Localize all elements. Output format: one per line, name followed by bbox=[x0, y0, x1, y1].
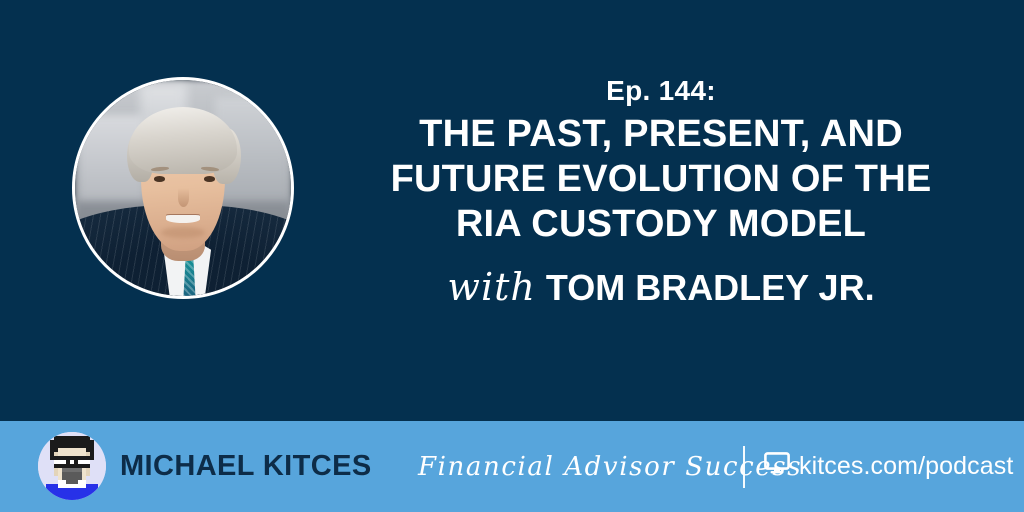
banner-stage: Ep. 144: THE PAST, PRESENT, AND FUTURE E… bbox=[0, 0, 1024, 421]
pixel-avatar-svg bbox=[38, 432, 106, 500]
episode-title-line-2: FUTURE EVOLUTION OF THE bbox=[336, 157, 986, 202]
eye-left bbox=[154, 176, 166, 182]
footer-bar: MICHAEL KITCES Financial Advisor Success… bbox=[0, 421, 1024, 512]
footer-divider bbox=[743, 446, 745, 488]
mouth bbox=[166, 215, 201, 223]
portrait-image bbox=[75, 80, 291, 296]
episode-title-line-1: THE PAST, PRESENT, AND bbox=[336, 112, 986, 157]
website-link[interactable]: kitces.com/podcast bbox=[764, 421, 1013, 512]
episode-number: Ep. 144: bbox=[336, 74, 986, 108]
episode-title-line-3: RIA CUSTODY MODEL bbox=[336, 202, 986, 247]
podcast-episode-banner: Ep. 144: THE PAST, PRESENT, AND FUTURE E… bbox=[0, 0, 1024, 512]
host-name: MICHAEL KITCES bbox=[120, 421, 372, 512]
chin-shadow bbox=[161, 227, 204, 238]
guest-name: TOM BRADLEY JR. bbox=[546, 267, 875, 308]
website-url: kitces.com/podcast bbox=[799, 452, 1013, 481]
monitor-icon bbox=[764, 452, 790, 481]
guest-portrait bbox=[72, 77, 294, 299]
pixel-avatar-icon bbox=[38, 432, 106, 500]
with-word: with bbox=[447, 265, 545, 309]
episode-title-block: Ep. 144: THE PAST, PRESENT, AND FUTURE E… bbox=[336, 74, 986, 310]
footer-content: MICHAEL KITCES Financial Advisor Success… bbox=[0, 421, 1024, 512]
monitor-icon-svg bbox=[764, 452, 790, 474]
episode-title: THE PAST, PRESENT, AND FUTURE EVOLUTION … bbox=[336, 112, 986, 247]
guest-credit: withTOM BRADLEY JR. bbox=[336, 265, 986, 310]
eye-right bbox=[204, 176, 216, 182]
